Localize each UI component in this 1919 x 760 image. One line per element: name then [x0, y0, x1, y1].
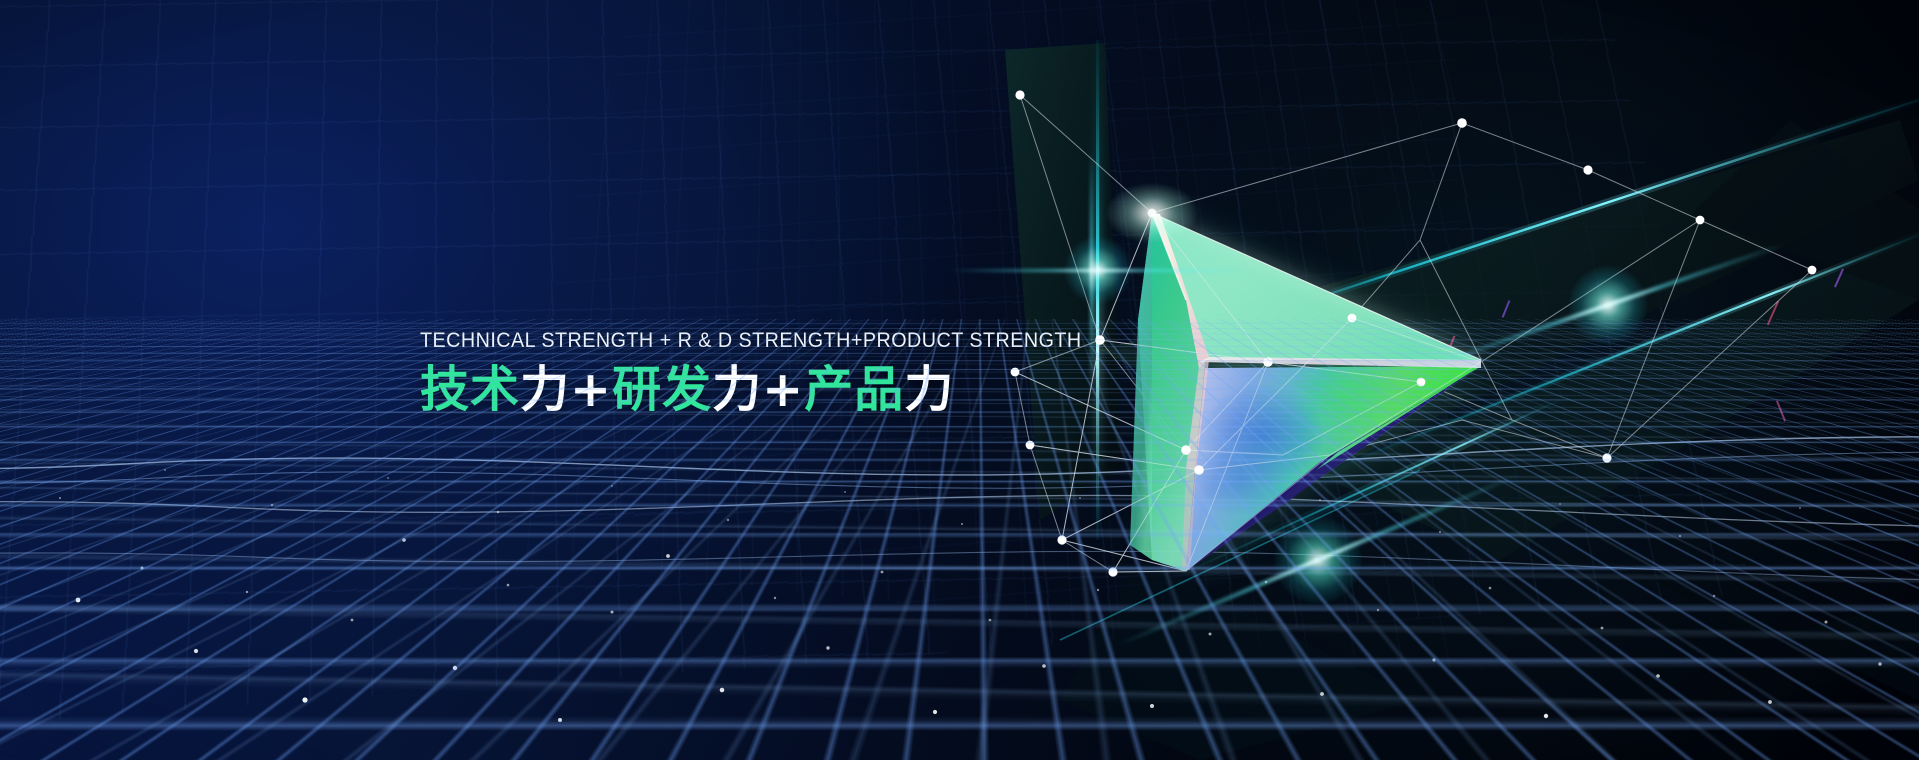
wave-crest-2	[0, 443, 1919, 563]
particle-field	[0, 0, 1919, 760]
headline-seg-6: +	[762, 361, 804, 418]
headline-seg-2: 力	[520, 361, 570, 418]
vignette-overlay	[0, 0, 1919, 760]
background-grid-primary	[0, 0, 1753, 754]
headline-seg-7: 产品	[804, 361, 904, 418]
logo-graphic	[0, 0, 1919, 760]
headline-seg-4: 研发	[612, 361, 712, 418]
wave-crest-1	[0, 398, 1919, 518]
wave-crest-3	[0, 505, 1919, 625]
headline-seg-1: 技术	[420, 361, 520, 418]
hero-banner: TECHNICAL STRENGTH + R & D STRENGTH+PROD…	[0, 0, 1919, 760]
geometric-slabs	[0, 0, 1919, 760]
background-grid-secondary	[482, 0, 1484, 670]
headline-seg-8: 力	[904, 361, 954, 418]
headline-seg-3: +	[570, 361, 612, 418]
hero-copy: TECHNICAL STRENGTH + R & D STRENGTH+PROD…	[420, 330, 1124, 416]
hero-eyebrow: TECHNICAL STRENGTH + R & D STRENGTH+PROD…	[420, 330, 1082, 351]
wave-field	[0, 319, 1919, 760]
hero-headline: 技术力+研发力+产品力	[420, 365, 1124, 416]
headline-seg-5: 力	[712, 361, 762, 418]
